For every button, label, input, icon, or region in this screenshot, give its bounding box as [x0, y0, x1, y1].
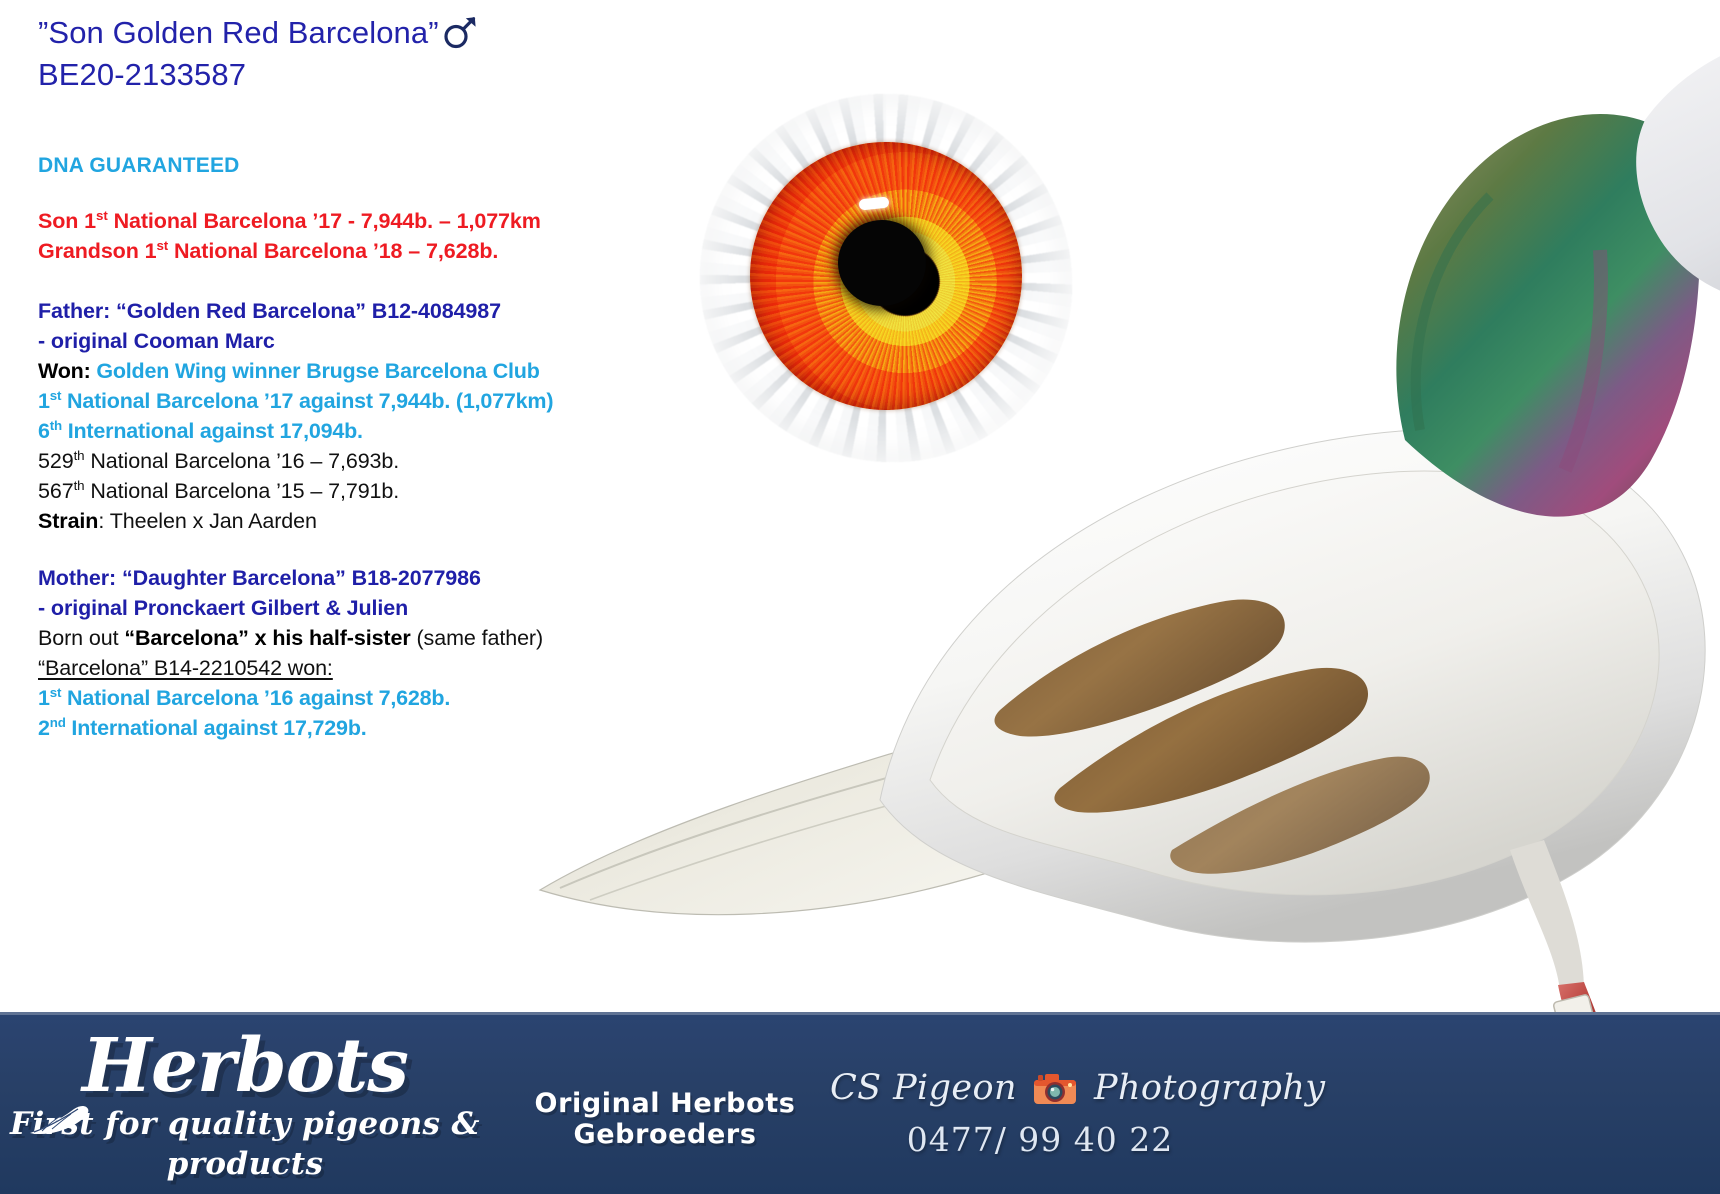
father-result-4-sup: th: [74, 478, 85, 493]
mother-result-1-pre: 1: [38, 686, 50, 710]
mother-result-2-post: International against 17,729b.: [66, 716, 367, 740]
photographer-credit: CS Pigeon Photography: [830, 1064, 1250, 1112]
born-out-pre: Born out: [38, 626, 124, 650]
highlight-son-sup: st: [96, 208, 108, 223]
herbots-logo-text: Herbots: [82, 1023, 408, 1109]
highlight-son-post: National Barcelona ’17 - 7,944b. – 1,077…: [108, 209, 541, 233]
original-herbots-gebroeders-tagline: Original Herbots Gebroeders: [455, 1088, 875, 1150]
grandmother-won-text: “Barcelona” B14-2210542 won:: [38, 656, 333, 680]
strain-value: : Theelen x Jan Aarden: [98, 509, 317, 533]
won-value: Golden Wing winner Brugse Barcelona Club: [96, 359, 539, 383]
highlight-grandson-pre: Grandson 1: [38, 239, 156, 263]
mother-result-2-sup: nd: [50, 715, 66, 730]
herbots-logo-word: Herbots: [10, 1024, 480, 1108]
father-result-4-pre: 567: [38, 479, 74, 503]
camera-icon: [1032, 1071, 1078, 1105]
father-result-1-pre: 1: [38, 389, 50, 413]
pedigree-card: ”Son Golden Red Barcelona” BE20-2133587 …: [0, 0, 1720, 1194]
father-result-1-post: National Barcelona ’17 against 7,944b. (…: [61, 389, 553, 413]
pigeon-photo: [500, 10, 1720, 1120]
born-out-bold: “Barcelona” x his half-sister: [124, 626, 410, 650]
won-label: Won:: [38, 359, 91, 383]
highlight-grandson-post: National Barcelona ’18 – 7,628b.: [168, 239, 498, 263]
feather-icon: [28, 1070, 94, 1104]
mother-result-1-sup: st: [50, 685, 61, 700]
father-result-3-pre: 529: [38, 449, 74, 473]
photographer-phone: 0477/ 99 40 22: [830, 1120, 1250, 1159]
photographer-post: Photography: [1082, 1068, 1325, 1108]
father-result-2-pre: 6: [38, 419, 50, 443]
mother-result-1-post: National Barcelona ’16 against 7,628b.: [61, 686, 450, 710]
strain-label: Strain: [38, 509, 98, 533]
footer-bar: Herbots First for quality pigeons & prod…: [0, 1012, 1720, 1194]
herbots-logo: Herbots First for quality pigeons & prod…: [10, 1024, 480, 1184]
father-result-3-post: National Barcelona ’16 – 7,693b.: [85, 449, 400, 473]
male-symbol-icon: [443, 15, 477, 49]
photographer-pre: CS Pigeon: [830, 1068, 1028, 1108]
mother-result-2-pre: 2: [38, 716, 50, 740]
father-result-3-sup: th: [74, 448, 85, 463]
father-result-1-sup: st: [50, 388, 61, 403]
father-result-4-post: National Barcelona ’15 – 7,791b.: [85, 479, 400, 503]
father-result-2-post: International against 17,094b.: [62, 419, 363, 443]
pigeon-name: ”Son Golden Red Barcelona”: [38, 15, 439, 50]
highlight-grandson-sup: st: [156, 238, 168, 253]
highlight-son-pre: Son 1: [38, 209, 96, 233]
father-result-2-sup: th: [50, 418, 62, 433]
